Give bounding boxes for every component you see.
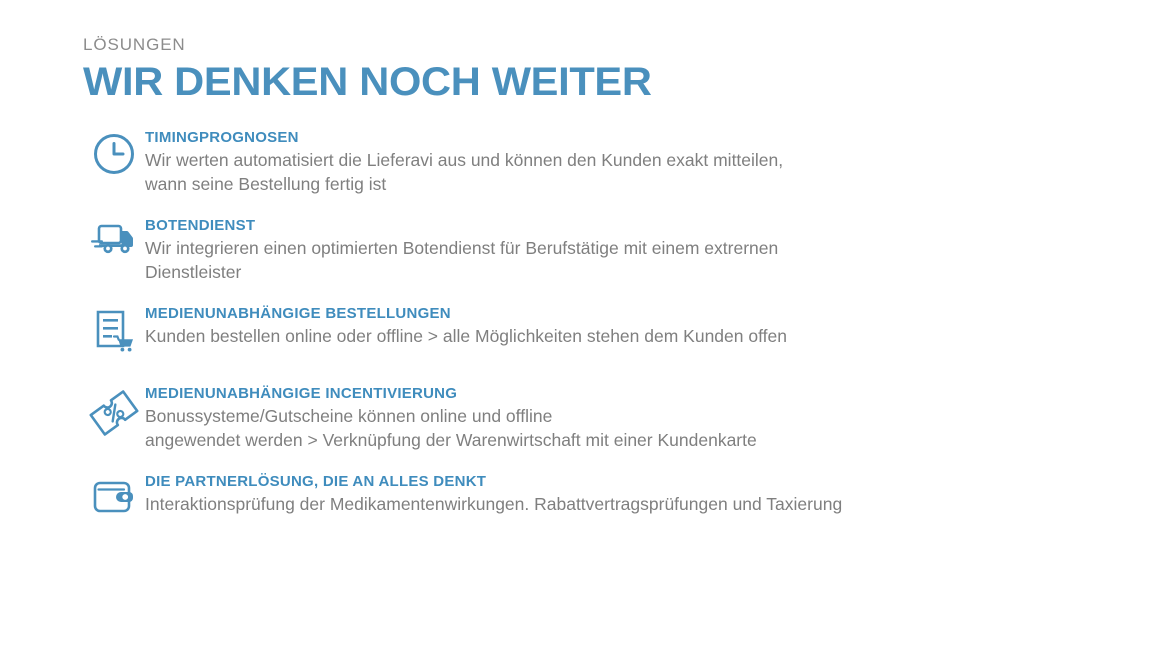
list-item-title: MEDIENUNABHÄNGIGE INCENTIVIERUNG bbox=[145, 384, 1103, 403]
list-item: TIMINGPROGNOSEN Wir werten automatisiert… bbox=[83, 128, 1103, 196]
feature-list: TIMINGPROGNOSEN Wir werten automatisiert… bbox=[83, 128, 1103, 528]
slide-header: LÖSUNGEN WIR DENKEN NOCH WEITER bbox=[83, 34, 630, 105]
list-item: MEDIENUNABHÄNGIGE BESTELLUNGEN Kunden be… bbox=[83, 304, 1103, 360]
list-item-title: MEDIENUNABHÄNGIGE BESTELLUNGEN bbox=[145, 304, 1103, 323]
list-item-body: MEDIENUNABHÄNGIGE INCENTIVIERUNG Bonussy… bbox=[145, 384, 1103, 452]
list-item-body: DIE PARTNERLÖSUNG, DIE AN ALLES DENKT In… bbox=[145, 472, 1103, 516]
list-item: BOTENDIENST Wir integrieren einen optimi… bbox=[83, 216, 1103, 284]
list-item-text: Kunden bestellen online oder offline > a… bbox=[145, 324, 1103, 348]
list-item: DIE PARTNERLÖSUNG, DIE AN ALLES DENKT In… bbox=[83, 472, 1103, 528]
list-item-body: BOTENDIENST Wir integrieren einen optimi… bbox=[145, 216, 1103, 284]
wallet-icon bbox=[83, 472, 145, 528]
discount-ticket-icon bbox=[83, 384, 145, 440]
list-item-text: Interaktionsprüfung der Medikamentenwirk… bbox=[145, 492, 1103, 516]
list-item-text: Wir werten automatisiert die Lieferavi a… bbox=[145, 148, 1103, 196]
list-item-title: TIMINGPROGNOSEN bbox=[145, 128, 1103, 147]
list-item-title: BOTENDIENST bbox=[145, 216, 1103, 235]
list-item-body: MEDIENUNABHÄNGIGE BESTELLUNGEN Kunden be… bbox=[145, 304, 1103, 348]
list-item: MEDIENUNABHÄNGIGE INCENTIVIERUNG Bonussy… bbox=[83, 384, 1103, 452]
list-item-title: DIE PARTNERLÖSUNG, DIE AN ALLES DENKT bbox=[145, 472, 1103, 491]
list-item-text: Wir integrieren einen optimierten Botend… bbox=[145, 236, 1103, 284]
slide-root: LÖSUNGEN WIR DENKEN NOCH WEITER TIMINGPR… bbox=[0, 0, 1170, 658]
list-item-body: TIMINGPROGNOSEN Wir werten automatisiert… bbox=[145, 128, 1103, 196]
eyebrow-label: LÖSUNGEN bbox=[83, 34, 630, 56]
document-cart-icon bbox=[83, 304, 145, 360]
clock-icon bbox=[83, 128, 145, 184]
list-item-text: Bonussysteme/Gutscheine können online un… bbox=[145, 404, 1103, 452]
page-title: WIR DENKEN NOCH WEITER bbox=[83, 59, 652, 105]
delivery-truck-icon bbox=[83, 216, 145, 272]
